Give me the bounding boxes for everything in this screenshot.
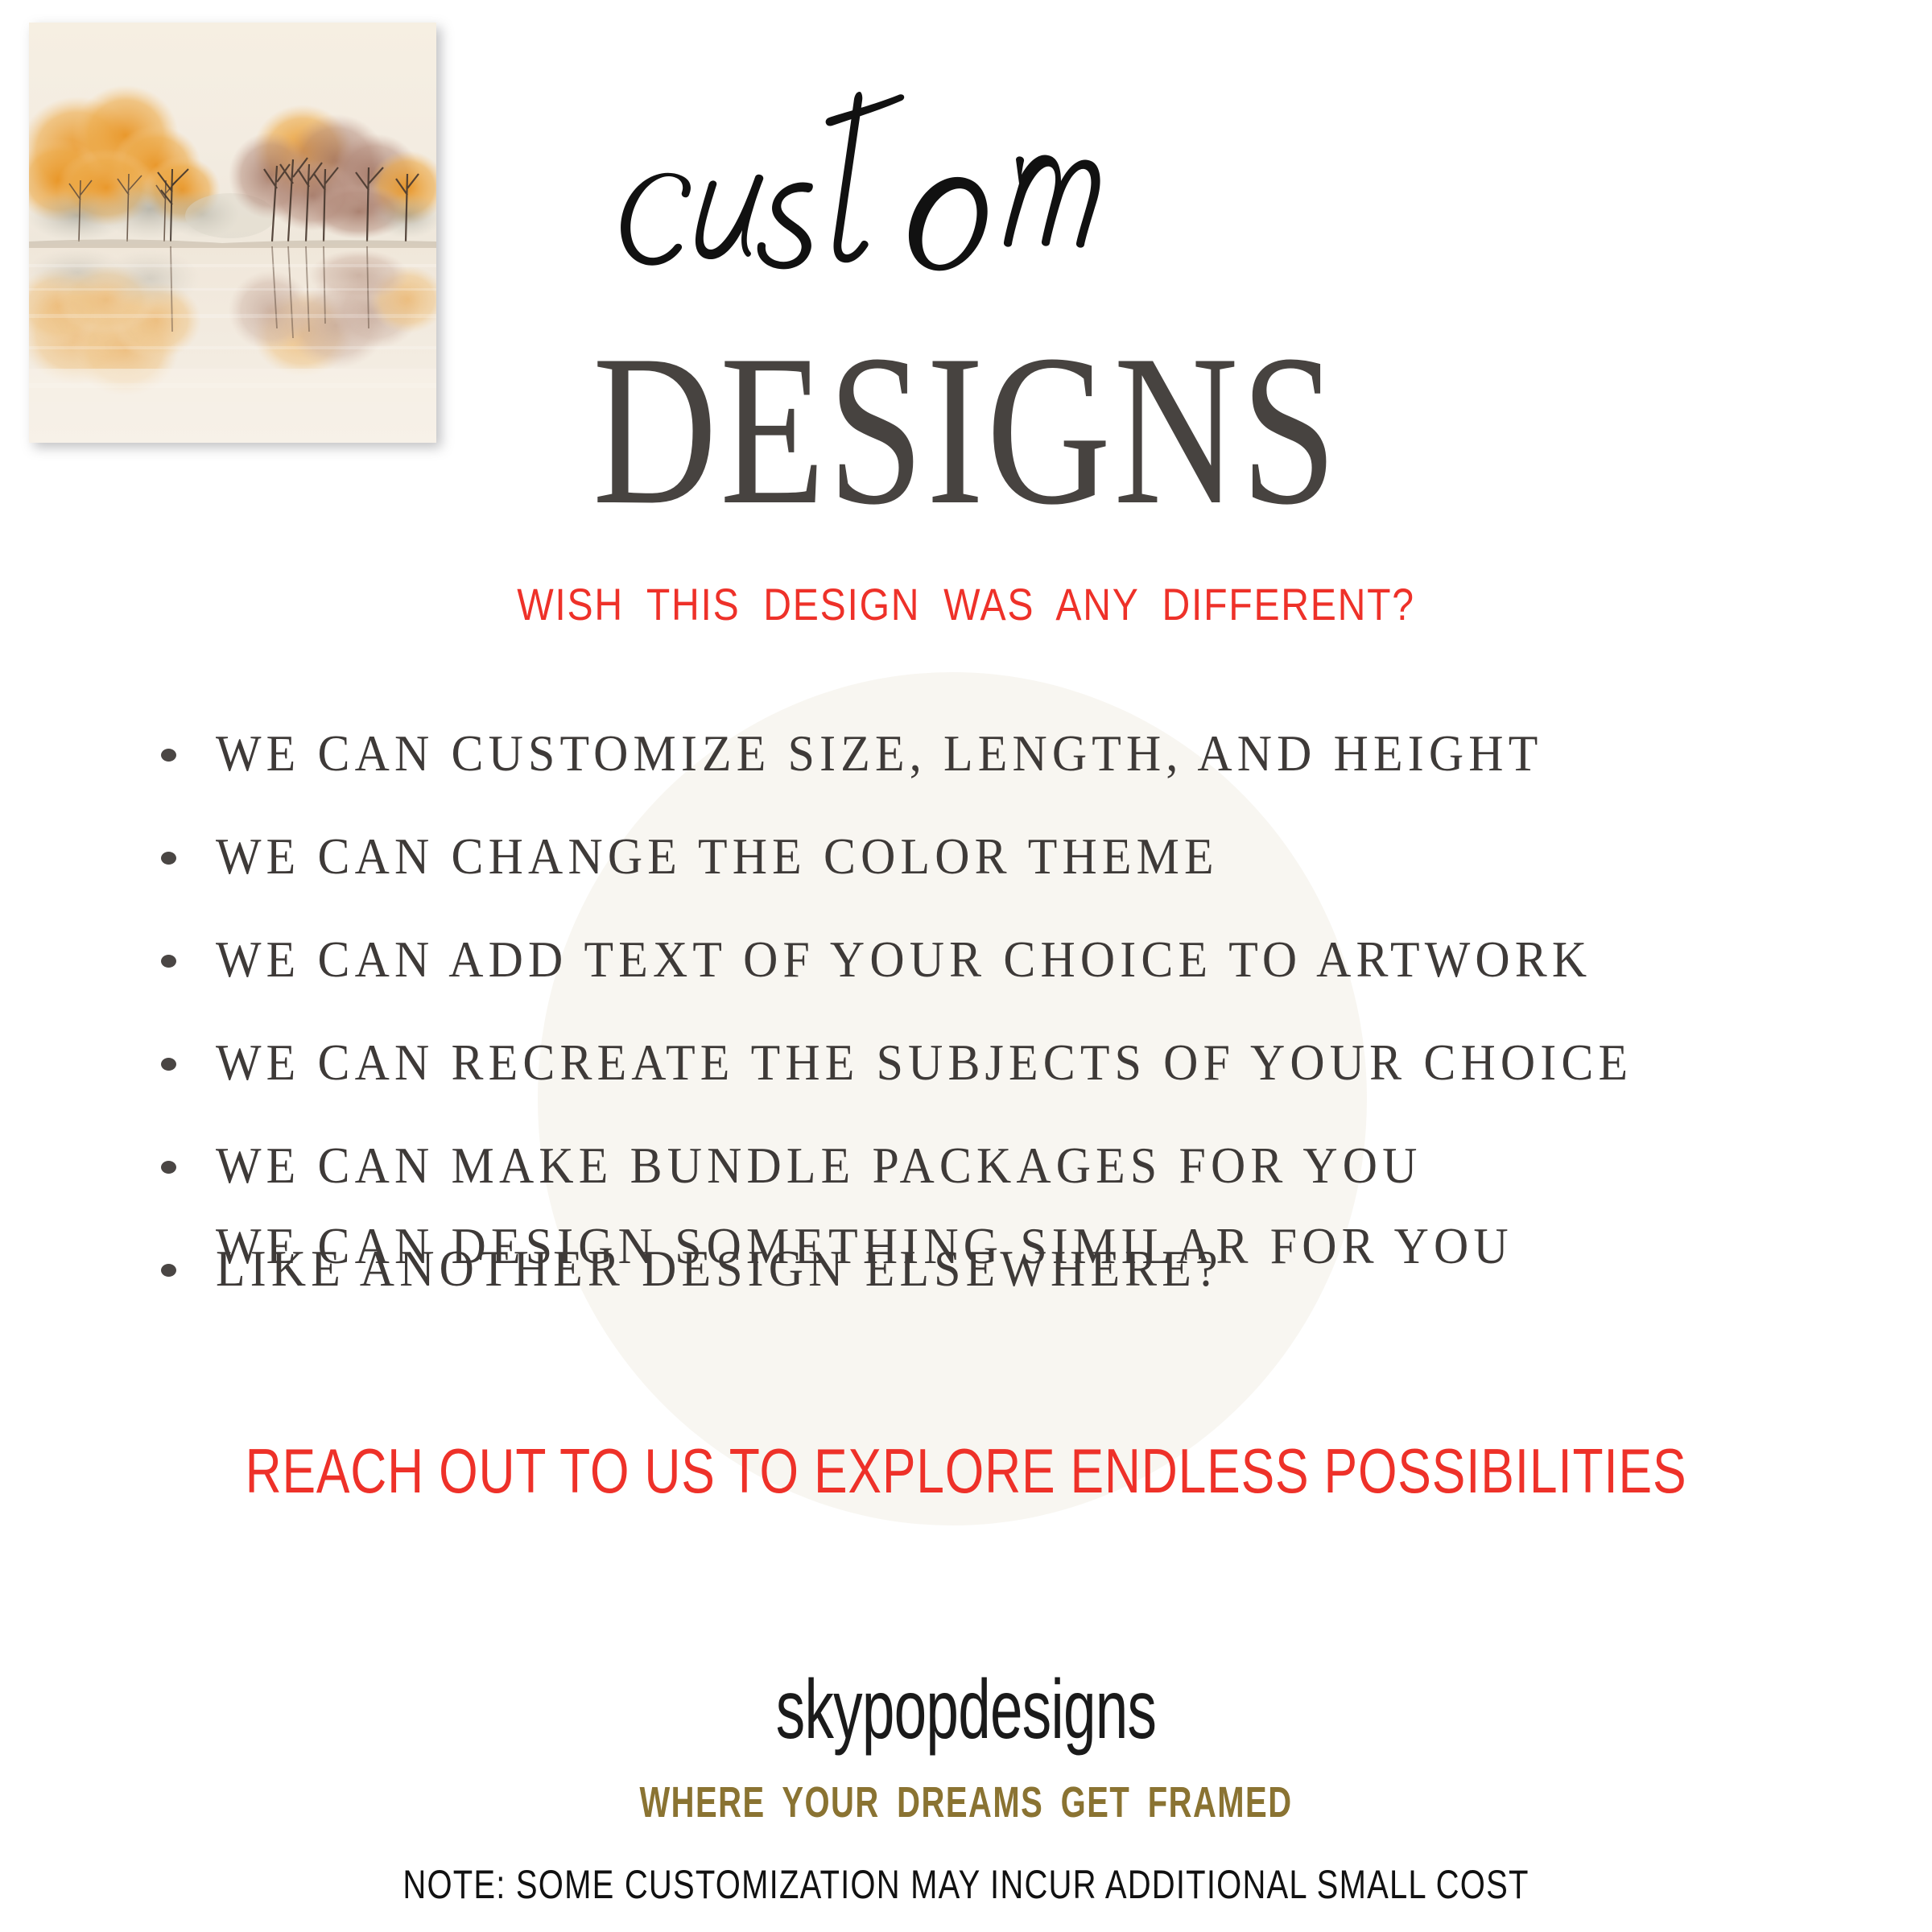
bullet-dot-icon <box>161 852 176 865</box>
script-headline-custom <box>0 89 1932 278</box>
list-item: WE CAN CHANGE THE COLOR THEME <box>158 805 1848 908</box>
list-item: WE CAN RECREATE THE SUBJECTS OF YOUR CHO… <box>158 1011 1848 1114</box>
list-item: WE CAN ADD TEXT OF YOUR CHOICE TO ARTWOR… <box>158 908 1848 1011</box>
page-title: DESIGNS <box>193 322 1739 538</box>
brand-logo-text: skypopdesigns <box>290 1662 1642 1758</box>
list-item: WE CAN MAKE BUNDLE PACKAGES FOR YOU <box>158 1114 1848 1217</box>
list-item-label: WE CAN RECREATE THE SUBJECTS OF YOUR CHO… <box>216 1011 1633 1114</box>
list-item: WE CAN CUSTOMIZE SIZE, LENGTH, AND HEIGH… <box>158 702 1848 805</box>
list-item-label: WE CAN ADD TEXT OF YOUR CHOICE TO ARTWOR… <box>216 908 1591 1011</box>
bullet-dot-icon <box>161 1058 176 1071</box>
call-to-action-text: REACH OUT TO US TO EXPLORE ENDLESS POSSI… <box>193 1435 1739 1508</box>
tagline-question: WISH THIS DESIGN WAS ANY DIFFERENT? <box>135 578 1797 630</box>
bullet-dot-icon <box>161 1264 176 1277</box>
custom-script-lettering <box>604 89 1328 274</box>
footer-note: NOTE: SOME CUSTOMIZATION MAY INCUR ADDIT… <box>193 1861 1739 1908</box>
list-item-continuation: WE CAN DESIGN SOMETHING SIMILAR FOR YOU <box>216 1217 1513 1276</box>
list-item-label: WE CAN CUSTOMIZE SIZE, LENGTH, AND HEIGH… <box>216 702 1542 805</box>
bullet-dot-icon <box>161 955 176 968</box>
list-item-label: WE CAN MAKE BUNDLE PACKAGES FOR YOU <box>216 1114 1422 1217</box>
bullet-dot-icon <box>161 1161 176 1174</box>
bullet-dot-icon <box>161 749 176 762</box>
list-item-label: WE CAN CHANGE THE COLOR THEME <box>216 805 1219 908</box>
brand-tagline: WHERE YOUR DREAMS GET FRAMED <box>251 1777 1681 1827</box>
poster-canvas: DESIGNS WISH THIS DESIGN WAS ANY DIFFERE… <box>0 0 1932 1932</box>
